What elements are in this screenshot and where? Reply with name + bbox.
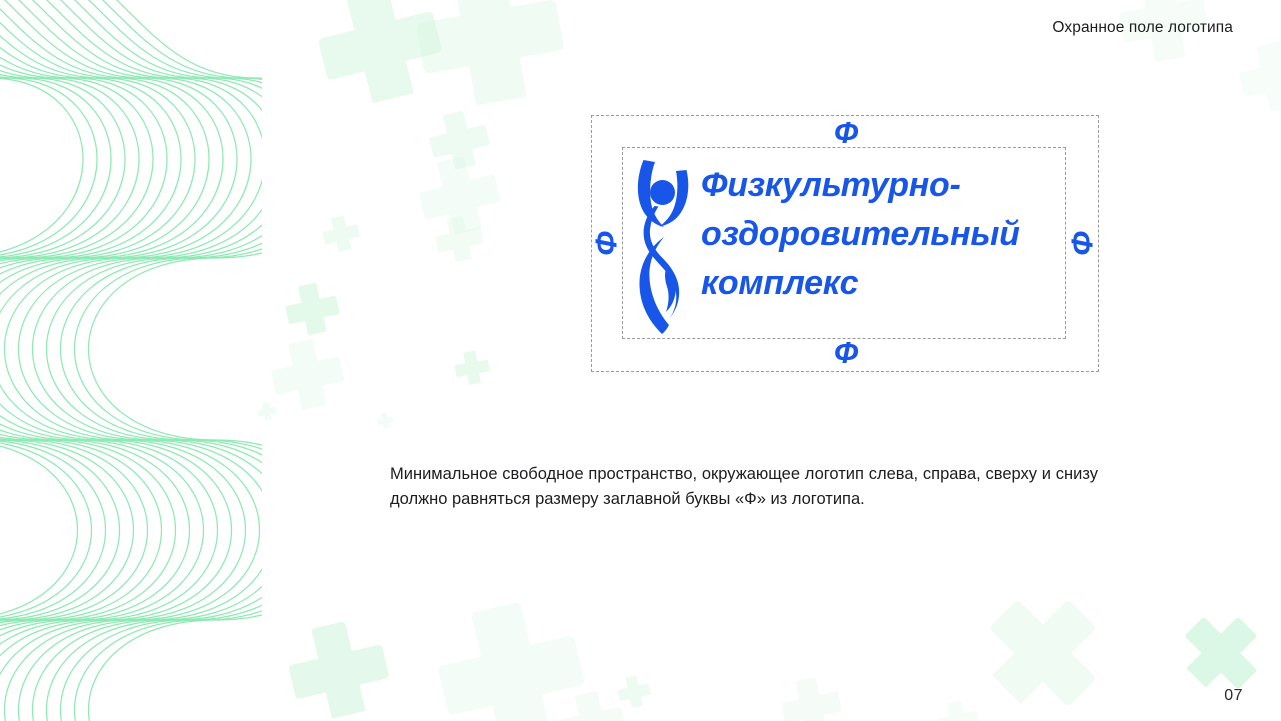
brand-logo: Физкультурно- оздоровительный комплекс <box>623 148 1065 338</box>
cross-decoration <box>934 696 981 721</box>
cross-decoration <box>452 347 491 386</box>
cross-decoration <box>319 211 362 254</box>
cross-decoration <box>426 586 594 721</box>
cross-decoration <box>967 571 1125 721</box>
body-paragraph: Минимальное свободное пространство, окру… <box>390 462 1098 511</box>
cross-decoration <box>777 671 846 721</box>
cross-decoration <box>1169 597 1276 704</box>
logo-wordmark: Физкультурно- оздоровительный комплекс <box>701 148 1020 308</box>
cross-decoration <box>307 0 450 113</box>
cross-decoration <box>407 0 572 113</box>
cross-decoration <box>554 684 630 721</box>
cross-decoration <box>376 411 395 430</box>
clear-space-marker-left: Ф <box>591 231 622 255</box>
human-figure-icon <box>623 148 701 338</box>
slide-header-title: Охранное поле логотипа <box>1052 19 1233 37</box>
cross-decoration <box>281 277 343 339</box>
page-number: 07 <box>1224 687 1243 705</box>
cross-decoration <box>615 672 653 710</box>
cross-decoration <box>1233 33 1281 116</box>
cross-decoration <box>412 147 507 242</box>
cross-decoration <box>432 211 487 266</box>
cross-decoration <box>280 610 395 721</box>
logo-clear-space-diagram: Ф Ф Ф Ф <box>591 115 1099 372</box>
cross-decoration <box>424 104 494 174</box>
wave-pattern <box>0 0 262 721</box>
cross-decoration <box>265 331 348 414</box>
slide-canvas: Охранное поле логотипа Ф Ф Ф Ф <box>0 0 1281 721</box>
clear-space-marker-top: Ф <box>834 117 858 148</box>
clear-space-marker-right: Ф <box>1067 231 1098 255</box>
clear-space-marker-bottom: Ф <box>834 337 858 368</box>
